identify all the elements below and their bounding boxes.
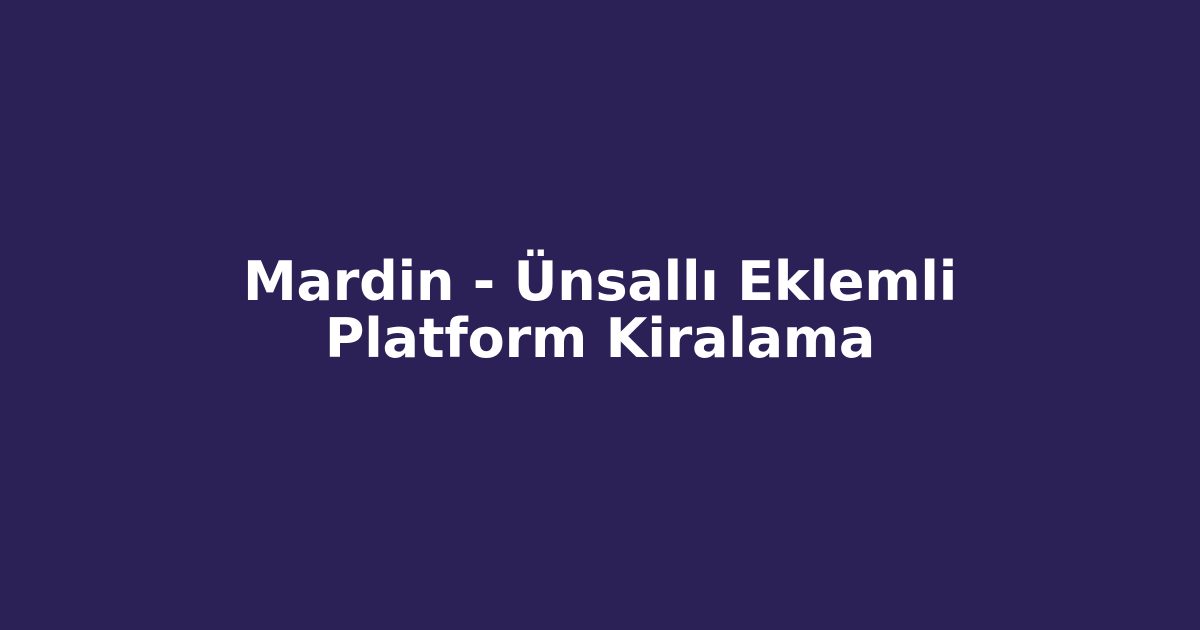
card-content: Mardin - Ünsallı Eklemli Platform Kirala…: [0, 253, 1200, 367]
share-card: Mardin - Ünsallı Eklemli Platform Kirala…: [0, 0, 1200, 630]
page-title: Mardin - Ünsallı Eklemli Platform Kirala…: [170, 253, 1030, 367]
